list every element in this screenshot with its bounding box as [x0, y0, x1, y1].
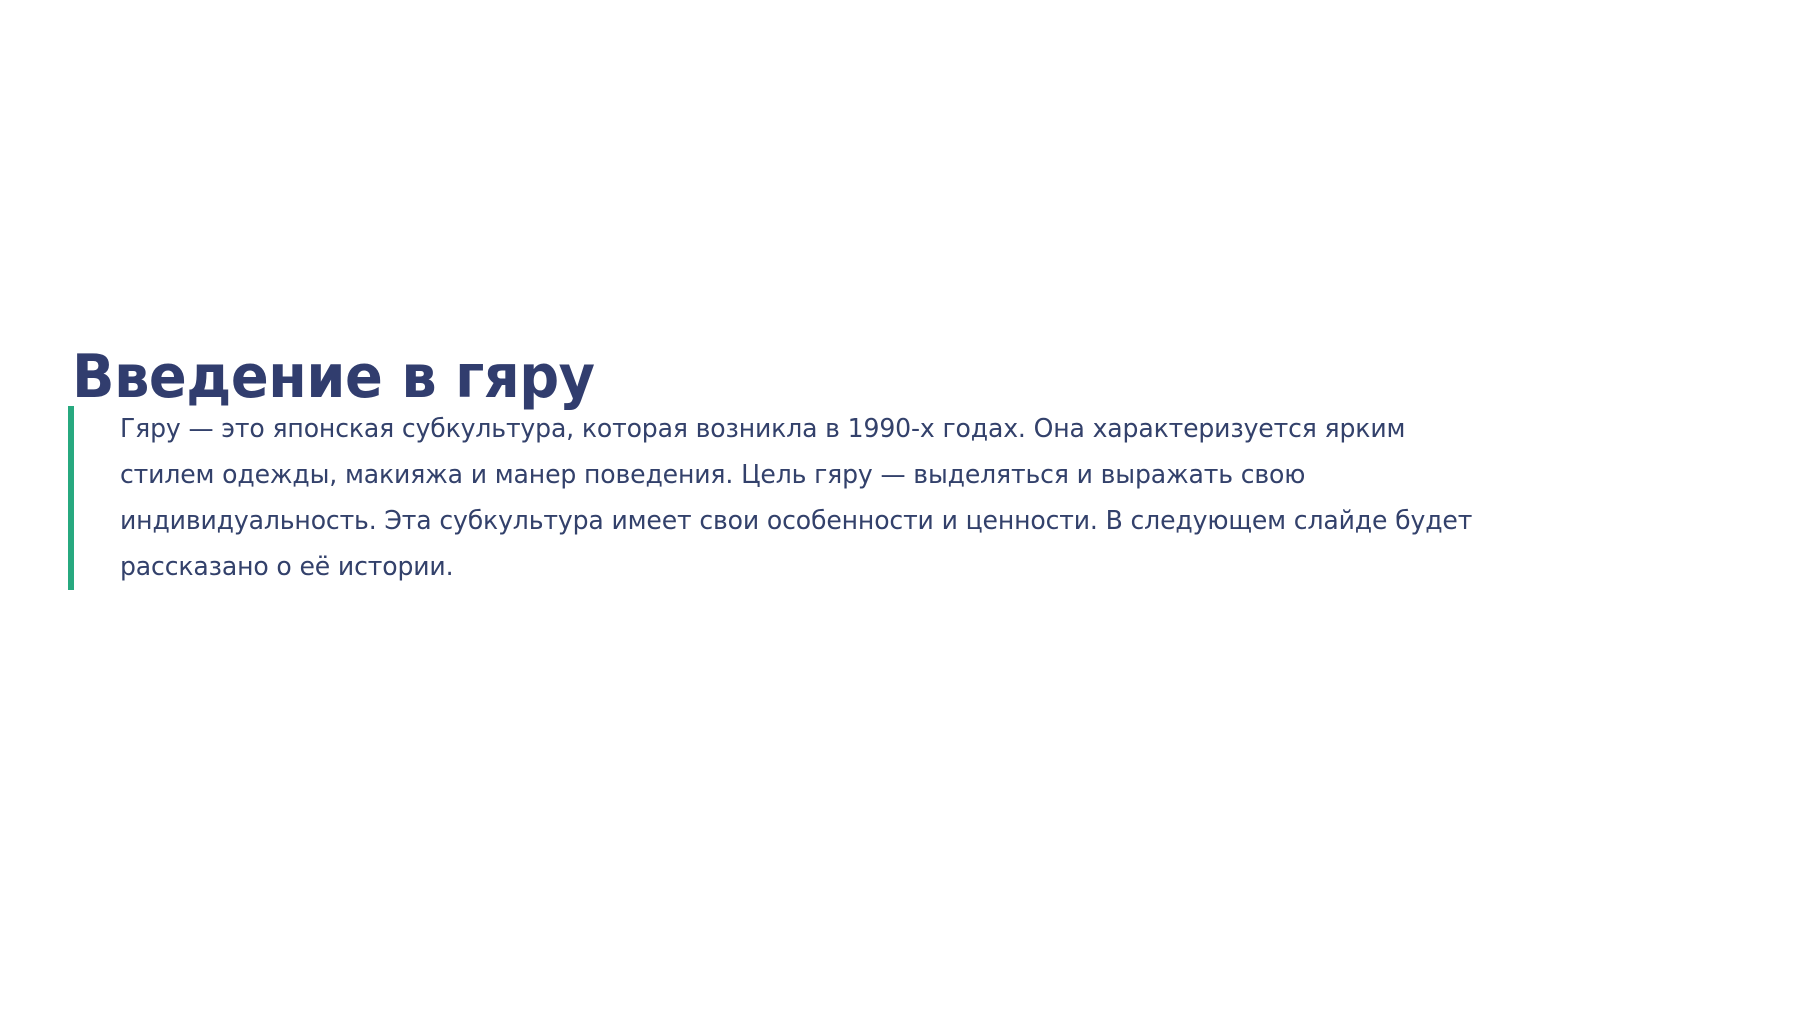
- slide-title: Введение в гяру: [72, 339, 1560, 415]
- body-callout-block: Гяру — это японская субкультура, которая…: [68, 406, 1518, 590]
- presentation-slide: Введение в гяру Гяру — это японская субк…: [0, 0, 1800, 1013]
- body-text-container: Гяру — это японская субкультура, которая…: [74, 406, 1518, 590]
- slide-body-paragraph: Гяру — это японская субкультура, которая…: [120, 406, 1497, 590]
